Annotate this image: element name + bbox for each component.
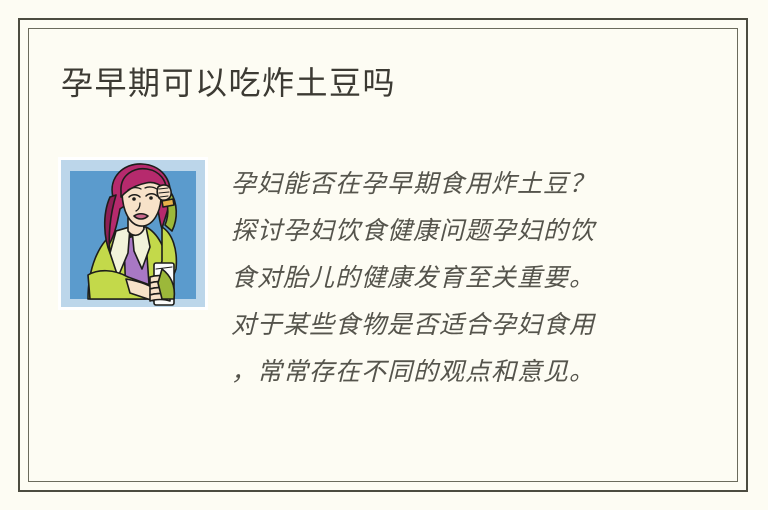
article-card: 孕早期可以吃炸土豆吗 — [0, 0, 768, 510]
page-title: 孕早期可以吃炸土豆吗 — [61, 62, 396, 104]
body-line: 食对胎儿的健康发育至关重要。 — [231, 254, 651, 301]
woman-with-glass-illustration — [58, 157, 208, 310]
body-line: 对于某些食物是否适合孕妇食用 — [231, 301, 651, 348]
body-line: ，常常存在不同的观点和意见。 — [231, 348, 651, 395]
article-illustration — [58, 157, 208, 310]
body-line: 探讨孕妇饮食健康问题孕妇的饮 — [231, 207, 651, 254]
article-body: 孕妇能否在孕早期食用炸土豆？ 探讨孕妇饮食健康问题孕妇的饮 食对胎儿的健康发育至… — [231, 160, 651, 395]
body-line: 孕妇能否在孕早期食用炸土豆？ — [231, 160, 651, 207]
